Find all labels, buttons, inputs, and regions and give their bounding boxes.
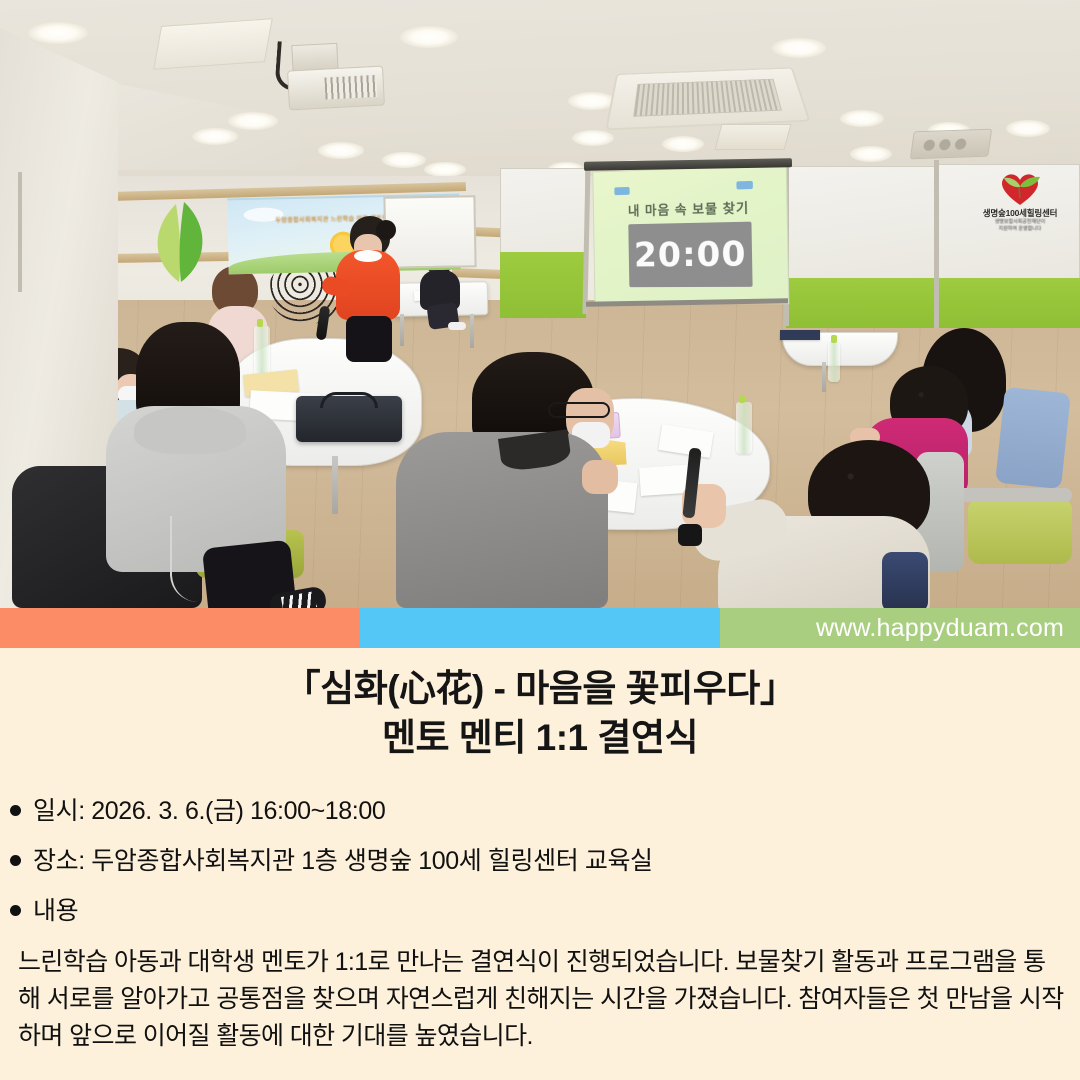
event-photo: 두암종합사회복지관 느린학습 아동 멘토링 프로그램 내 마음 속 보물 찾기 … — [0, 0, 1080, 608]
screen-graphic-clip — [736, 181, 753, 190]
partition-mullion — [934, 160, 939, 328]
wristwatch — [678, 524, 702, 546]
projection-screen: 내 마음 속 보물 찾기 20:00 — [592, 164, 789, 304]
screen-timer-box: 20:00 — [628, 222, 752, 288]
detail-text-location: 장소: 두암종합사회복지관 1층 생명숲 100세 힐링센터 교육실 — [33, 841, 653, 877]
detail-text-datetime: 일시: 2026. 3. 6.(금) 16:00~18:00 — [33, 791, 385, 827]
detail-list: 일시: 2026. 3. 6.(금) 16:00~18:00 장소: 두암종합사… — [0, 770, 1080, 936]
hair-bun — [376, 220, 396, 240]
screen-graphic-clip — [614, 187, 629, 195]
table-leg — [470, 314, 474, 348]
participant-grey-coat-man — [396, 352, 624, 608]
list-item: 장소: 두암종합사회복지관 1층 생명숲 100세 힐링센터 교육실 — [10, 836, 1080, 886]
center-logo-heart-leaf-icon — [997, 172, 1043, 206]
content-area: 「심화(心花) - 마음을 꽃피우다」 멘토 멘티 1:1 결연식 일시: 20… — [0, 648, 1080, 1055]
detail-text-content-label: 내용 — [33, 891, 78, 927]
chair — [968, 498, 1072, 564]
ceiling-light — [1006, 120, 1050, 137]
screen-timer-value: 20:00 — [628, 234, 752, 276]
paper-sheet — [780, 330, 820, 340]
color-segment-sky — [360, 608, 720, 648]
screen-title-text: 내 마음 속 보물 찾기 — [594, 196, 787, 220]
backpack-strap — [882, 552, 928, 608]
ceiling-light — [400, 26, 458, 48]
shoe — [448, 322, 466, 330]
ceiling-vent — [715, 124, 792, 150]
partition-green-band — [786, 278, 1080, 328]
bullet-dot-icon — [10, 805, 21, 816]
ceiling-light — [192, 128, 238, 145]
center-logo-sub1: 생명보험사회공헌재단이 — [962, 219, 1078, 226]
ceiling-light — [228, 112, 278, 130]
color-bar: www.happyduam.com — [0, 608, 1080, 648]
ceiling-light — [424, 162, 466, 177]
pants — [346, 316, 392, 362]
poster-page: 두암종합사회복지관 느린학습 아동 멘토링 프로그램 내 마음 속 보물 찾기 … — [0, 0, 1080, 1080]
water-bottle — [828, 342, 840, 382]
ceiling-light — [318, 142, 364, 159]
bullet-dot-icon — [10, 855, 21, 866]
body-paragraph: 느린학습 아동과 대학생 멘토가 1:1로 만나는 결연식이 진행되었습니다. … — [0, 936, 1080, 1054]
hoodie-collar — [354, 250, 382, 262]
wall-exhaust-vent — [910, 129, 992, 160]
list-item: 일시: 2026. 3. 6.(금) 16:00~18:00 — [10, 786, 1080, 836]
ceiling-light — [28, 22, 88, 44]
leaf-decal-icon — [146, 196, 214, 284]
hood — [134, 406, 246, 454]
title-line-1: 「심화(心花) - 마음을 꽃피우다」 — [0, 664, 1080, 713]
partition-green-band — [500, 252, 586, 318]
list-item: 내용 — [10, 886, 1080, 936]
chair-frame — [948, 488, 1072, 502]
poster-title: 「심화(心花) - 마음을 꽃피우다」 멘토 멘티 1:1 결연식 — [0, 662, 1080, 770]
ceiling-light — [772, 38, 826, 58]
ceiling-ac-unit — [605, 67, 811, 130]
partition-mullion — [18, 172, 22, 292]
bullet-dot-icon — [10, 905, 21, 916]
chair — [995, 387, 1071, 489]
glasses-icon — [548, 402, 610, 418]
ceiling-light — [850, 146, 892, 162]
ceiling-light — [382, 152, 426, 168]
center-logo-name: 생명숲100세힐링센터 — [962, 207, 1078, 219]
table-leg — [822, 362, 826, 392]
ceiling-light — [662, 136, 704, 152]
table-leg — [332, 456, 338, 514]
center-logo-sub2: 지원하여 운영합니다 — [962, 226, 1078, 233]
color-segment-coral — [0, 608, 360, 648]
participant-cream-sweater-boy — [700, 440, 940, 608]
ceiling-projector — [287, 66, 385, 111]
presenter-orange-hoodie — [330, 216, 406, 366]
website-url[interactable]: www.happyduam.com — [720, 608, 1080, 648]
earphone-cable — [170, 516, 198, 602]
hand — [582, 460, 618, 494]
fluorescent-panel — [153, 18, 273, 70]
ceiling-light — [840, 110, 884, 127]
center-logo: 생명숲100세힐링센터 생명보험사회공헌재단이 지원하여 운영합니다 — [962, 172, 1078, 240]
ceiling-light — [572, 130, 614, 146]
title-line-2: 멘토 멘티 1:1 결연식 — [0, 713, 1080, 762]
bag-strap — [320, 392, 378, 408]
